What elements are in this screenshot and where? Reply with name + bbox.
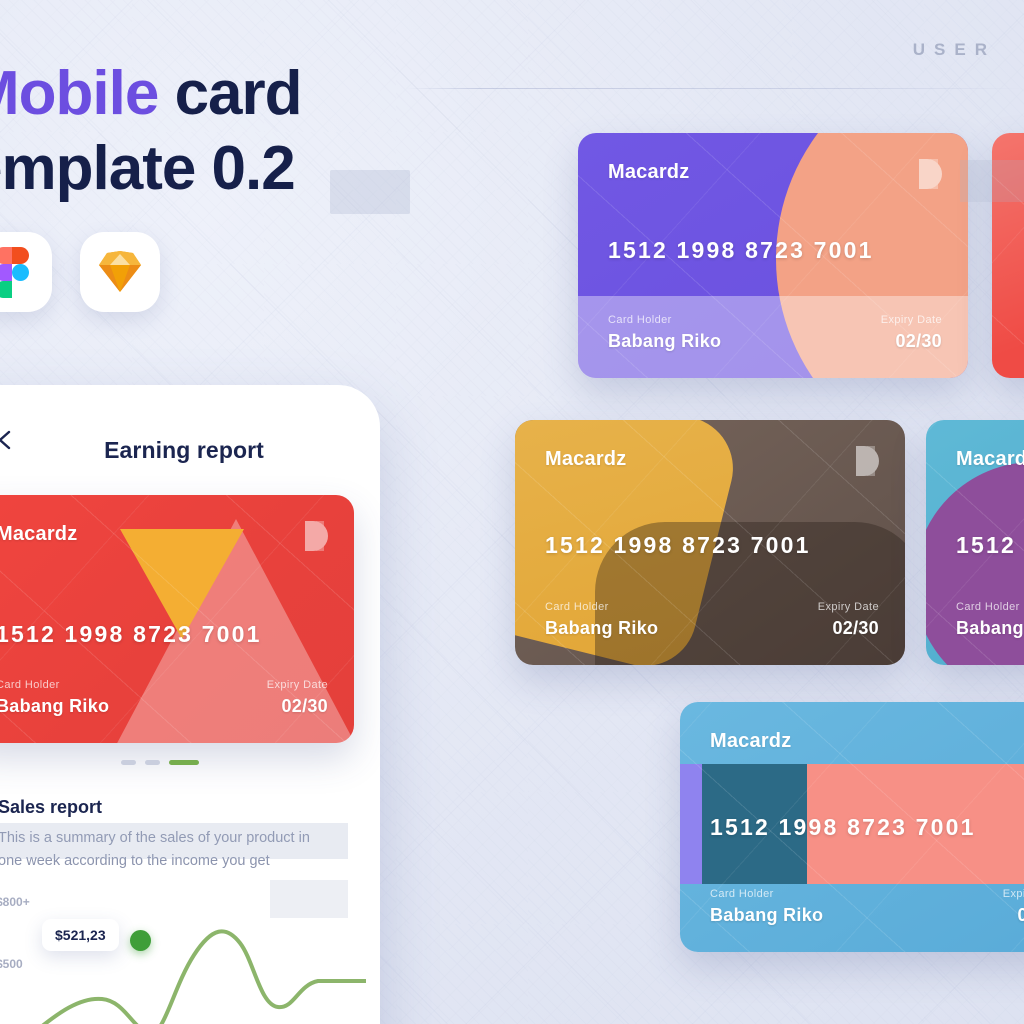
card-holder-label: Card Holder bbox=[710, 888, 823, 900]
chevron-left-icon[interactable] bbox=[0, 429, 16, 451]
pager-dot[interactable] bbox=[121, 760, 136, 765]
card-footer: Card Holder Babang bbox=[956, 601, 1024, 639]
sales-line-chart bbox=[36, 881, 366, 1024]
card-logo-icon bbox=[853, 444, 879, 478]
card-holder-value: Babang Riko bbox=[608, 331, 721, 352]
figma-icon bbox=[0, 247, 29, 297]
user-label: USER bbox=[913, 40, 996, 60]
poster-canvas: USER Mobile card emplate 0.2 E bbox=[0, 0, 1024, 1024]
card-expiry-label: Expiry Date bbox=[1003, 888, 1024, 900]
card-footer: Card Holder Babang Riko Expiry Date 02/3… bbox=[545, 601, 879, 639]
card-expiry-value: 02/30 bbox=[881, 331, 942, 352]
header-divider bbox=[406, 88, 1024, 89]
sketch-tile[interactable] bbox=[80, 232, 160, 312]
card-brown[interactable]: Macardz 1512 1998 8723 7001 Card Holder … bbox=[515, 420, 905, 665]
card-footer: Card Holder Babang Riko Expiry Date 02/3… bbox=[710, 888, 1024, 926]
chart-tooltip: $521,23 bbox=[42, 919, 119, 951]
title-highlight-smudge bbox=[330, 170, 410, 214]
sales-report-title: Sales report bbox=[0, 797, 102, 818]
card-expiry-label: Expiry Date bbox=[818, 601, 879, 613]
phone-screen-title: Earning report bbox=[0, 437, 380, 464]
sketch-icon bbox=[97, 251, 143, 293]
card-holder-value: Babang bbox=[956, 618, 1024, 639]
card-holder-label: Card Holder bbox=[545, 601, 658, 613]
card-brand: Macardz bbox=[0, 523, 77, 546]
card-brand: Macardz bbox=[608, 161, 689, 184]
card-brand: Macardz bbox=[545, 448, 626, 471]
card-teal[interactable]: Macardz 1512 Card Holder Babang bbox=[926, 420, 1024, 665]
card-number: 1512 1998 8723 7001 bbox=[545, 532, 879, 559]
card-number: 1512 1998 8723 7001 bbox=[608, 237, 942, 264]
card-holder-label: Card Holder bbox=[956, 601, 1024, 613]
carousel-pagination[interactable] bbox=[0, 760, 380, 765]
pager-dot-active[interactable] bbox=[169, 760, 199, 765]
card-number: 1512 1998 8723 7001 bbox=[710, 814, 1024, 841]
phone-header: Earning report bbox=[0, 429, 380, 471]
card-red[interactable]: Macardz 1512 1998 8723 7001 Card Holder … bbox=[0, 495, 354, 743]
card-expiry-label: Expiry Date bbox=[267, 679, 328, 691]
card-number: 1512 bbox=[956, 532, 1024, 559]
y-tick-label: $500 bbox=[0, 957, 23, 971]
card-expiry-value: 02/30 bbox=[267, 696, 328, 717]
card-holder-label: Card Holder bbox=[608, 314, 721, 326]
figma-tile[interactable] bbox=[0, 232, 52, 312]
chart-data-point[interactable] bbox=[130, 930, 151, 951]
card-holder-value: Babang Riko bbox=[710, 905, 823, 926]
page-title-accent: Mobile bbox=[0, 59, 158, 128]
card-expiry-label: Expiry Date bbox=[881, 314, 942, 326]
card-expiry-value: 02/30 bbox=[818, 618, 879, 639]
card-number: 1512 1998 8723 7001 bbox=[0, 621, 328, 648]
tool-icons bbox=[0, 232, 160, 312]
card-brand: Macardz bbox=[710, 730, 791, 753]
card-blue[interactable]: Macardz 1512 1998 8723 7001 Card Holder … bbox=[680, 702, 1024, 952]
description-smudge bbox=[0, 823, 348, 859]
card-logo-icon bbox=[916, 157, 942, 191]
card-brand: Macardz bbox=[956, 448, 1024, 471]
card-footer: Card Holder Babang Riko Expiry Date 02/3… bbox=[0, 679, 328, 717]
page-title-rest: card bbox=[175, 59, 302, 128]
card-footer: Card Holder Babang Riko Expiry Date 02/3… bbox=[608, 314, 942, 352]
card-logo-icon bbox=[302, 519, 328, 553]
phone-mockup: Earning report Macardz 1512 1998 8723 70… bbox=[0, 385, 380, 1024]
card-red-partial[interactable] bbox=[992, 133, 1024, 378]
card-holder-value: Babang Riko bbox=[0, 696, 109, 717]
card-purple[interactable]: Macardz 1512 1998 8723 7001 Card Holder … bbox=[578, 133, 968, 378]
card-holder-value: Babang Riko bbox=[545, 618, 658, 639]
pager-dot[interactable] bbox=[145, 760, 160, 765]
y-tick-label: $800+ bbox=[0, 895, 30, 909]
card-expiry-value: 02/30 bbox=[1003, 905, 1024, 926]
card-holder-label: Card Holder bbox=[0, 679, 109, 691]
